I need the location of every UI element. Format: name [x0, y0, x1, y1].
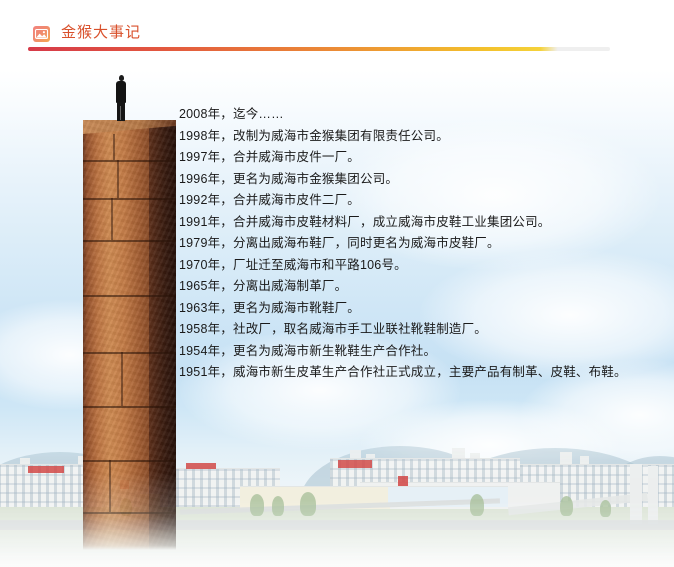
pillar-mask [83, 120, 176, 550]
tree [272, 496, 284, 516]
stone-joint [83, 512, 176, 514]
timeline-entry: 1963年，更名为威海市靴鞋厂。 [179, 298, 649, 320]
stone-joint [83, 240, 176, 242]
stone-joint [111, 198, 113, 240]
stone-joint [121, 352, 123, 406]
rock-texture [83, 120, 176, 550]
timeline-entry: 1958年，社改厂，取名威海市手工业联社靴鞋制造厂。 [179, 319, 649, 341]
tree [300, 492, 316, 516]
tree [560, 496, 573, 516]
stone-joint [83, 160, 176, 162]
stone-joint [83, 198, 176, 200]
person-legs [117, 102, 125, 121]
timeline-entry: 1998年，改制为威海市金猴集团有限责任公司。 [179, 126, 649, 148]
stone-joint [113, 134, 115, 160]
stone-joint [109, 460, 111, 512]
page-title: 金猴大事记 [61, 22, 141, 44]
timeline-entry: 1997年，合并威海市皮件一厂。 [179, 147, 649, 169]
person-figure [114, 75, 128, 121]
header-divider [28, 47, 610, 51]
timeline-entry: 1965年，分离出威海制革厂。 [179, 276, 649, 298]
red-sign [186, 463, 216, 469]
overpass-pylon [648, 466, 658, 524]
stone-joint [83, 295, 176, 297]
overpass-pylon [630, 464, 642, 524]
person-torso [116, 81, 126, 103]
tree [250, 494, 264, 516]
timeline-entry: 1992年，合并威海市皮件二厂。 [179, 190, 649, 212]
timeline-entry: 2008年，迄今…… [179, 104, 649, 126]
timeline-entry: 1954年，更名为威海市新生靴鞋生产合作社。 [179, 341, 649, 363]
stone-pillar-graphic [83, 120, 176, 550]
page-root: 金猴大事记 2008年，迄今…… 1998年，改制为威海市金猴集团有限责任公司。… [0, 0, 674, 567]
timeline-entry: 1996年，更名为威海市金猴集团公司。 [179, 169, 649, 191]
stone-joint [83, 460, 176, 462]
timeline-entry: 1951年，威海市新生皮革生产合作社正式成立，主要产品有制革、皮鞋、布鞋。 [179, 362, 649, 384]
timeline-entry: 1979年，分离出威海布鞋厂，同时更名为威海市皮鞋厂。 [179, 233, 649, 255]
stone-joint [117, 160, 119, 198]
red-sign [338, 460, 372, 468]
section-header: 金猴大事记 [0, 0, 674, 56]
stone-joint [83, 406, 176, 408]
timeline-entry: 1991年，合并威海市皮鞋材料厂，成立威海市皮鞋工业集团公司。 [179, 212, 649, 234]
red-sign [398, 476, 408, 486]
red-sign [28, 466, 64, 473]
timeline-list: 2008年，迄今…… 1998年，改制为威海市金猴集团有限责任公司。 1997年… [179, 104, 649, 384]
person-leg-gap [120, 106, 121, 120]
tree [600, 500, 611, 517]
timeline-entry: 1970年，厂址迁至威海市和平路106号。 [179, 255, 649, 277]
photo-gradient-icon [33, 26, 50, 42]
tree [470, 494, 484, 516]
stone-joint [83, 352, 176, 354]
